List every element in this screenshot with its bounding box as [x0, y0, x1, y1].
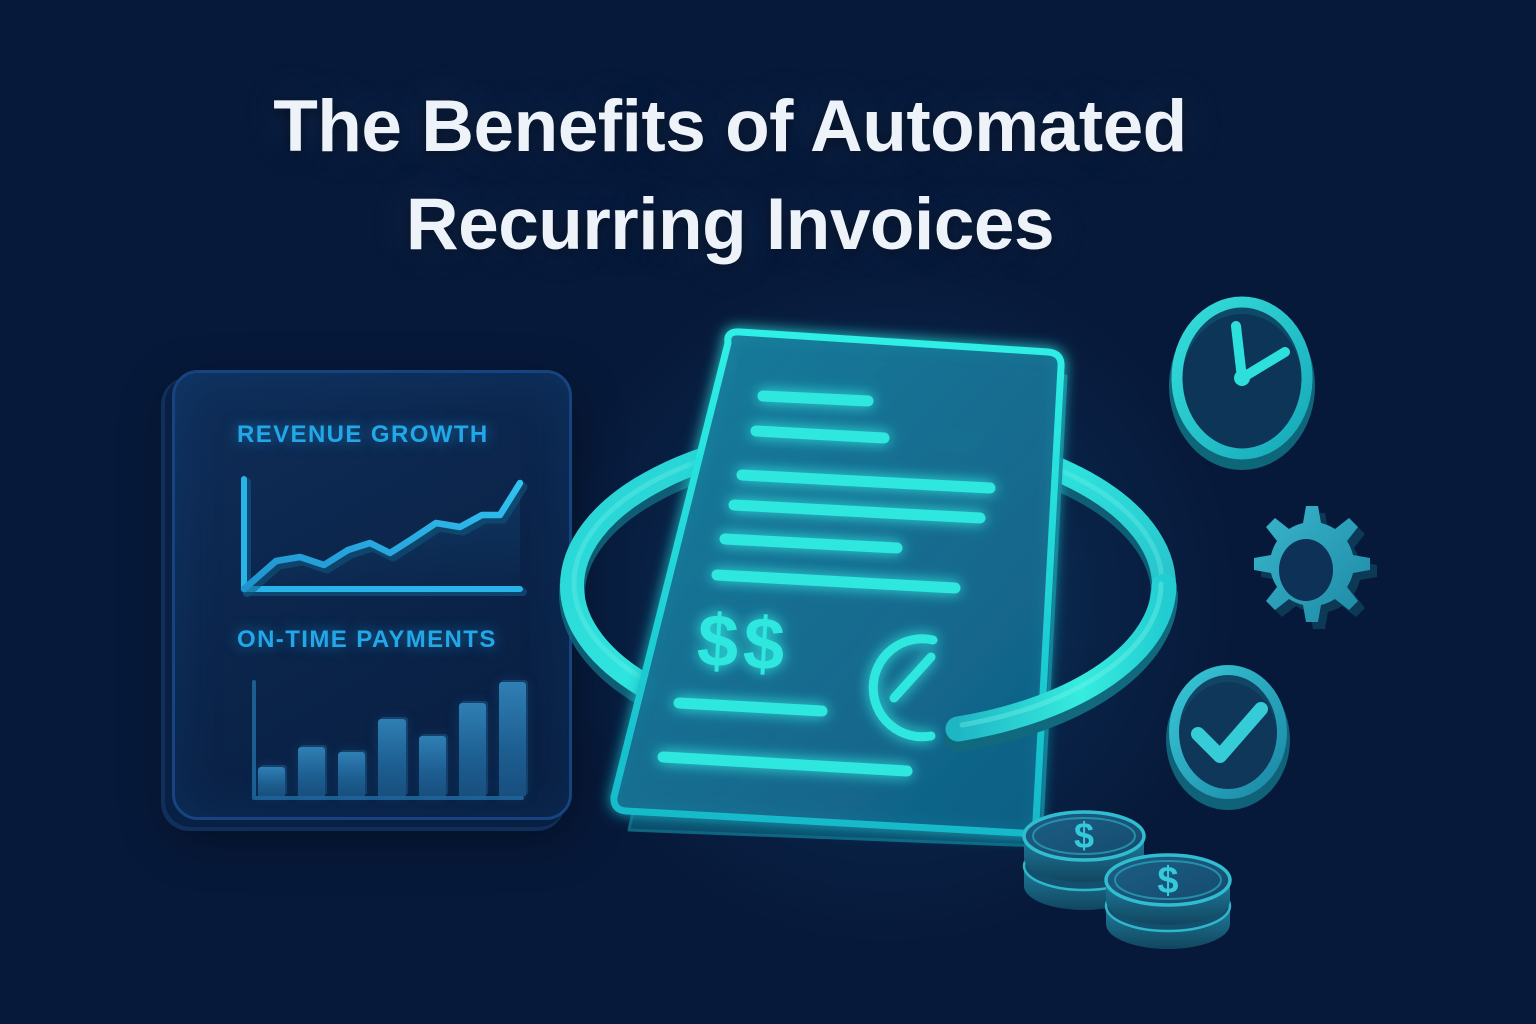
ring-front-arc: [548, 418, 1188, 758]
bar-chart-y-axis: [252, 680, 256, 798]
on-time-payments-label: ON-TIME PAYMENTS: [237, 626, 497, 654]
metrics-panel: REVENUE GROWTH: [172, 370, 572, 820]
revenue-growth-line-chart: [230, 465, 530, 605]
clock-icon: [1168, 290, 1316, 470]
title-line-2: Recurring Invoices: [0, 176, 1460, 274]
coin-stack-right: $: [1106, 855, 1230, 949]
illustration-canvas: The Benefits of Automated Recurring Invo…: [0, 0, 1536, 1024]
on-time-payments-bar-chart: [230, 669, 530, 804]
page-title: The Benefits of Automated Recurring Invo…: [0, 78, 1460, 274]
bar-2: [298, 747, 325, 796]
coin-dollar-right: $: [1157, 860, 1178, 902]
title-line-1: The Benefits of Automated: [273, 86, 1187, 167]
bar-chart-bars: [258, 678, 526, 796]
bar-4: [378, 719, 405, 796]
bar-1: [258, 767, 285, 796]
bar-chart-x-axis: [252, 796, 524, 800]
bar-6: [459, 703, 486, 796]
bar-7: [499, 682, 526, 796]
bar-5: [419, 736, 446, 796]
coin-stack-icon: $ $: [1012, 770, 1252, 930]
invoice-line-1: [763, 396, 868, 401]
coin-dollar-left: $: [1074, 815, 1094, 856]
bar-3: [338, 752, 365, 796]
revenue-growth-label: REVENUE GROWTH: [237, 421, 489, 449]
gear-icon: [1236, 500, 1376, 640]
